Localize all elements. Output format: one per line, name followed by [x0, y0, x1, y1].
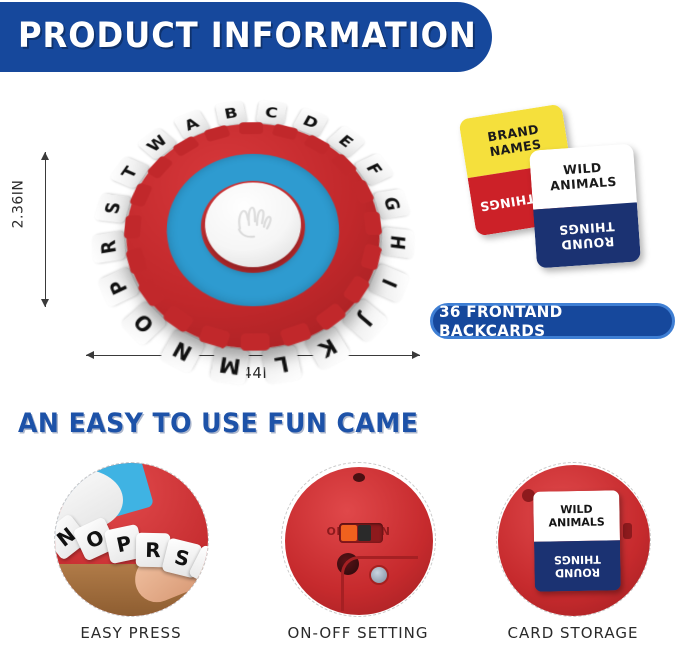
- feature-on-off-image: OFF ON: [281, 462, 436, 617]
- stored-card-bottom-label: ROUND THINGS: [534, 540, 621, 591]
- power-switch[interactable]: [339, 523, 383, 543]
- power-switch-knob[interactable]: [341, 525, 357, 541]
- height-dimension-arrow: [45, 152, 46, 307]
- height-dimension-label: 2.36IN: [10, 180, 26, 229]
- letter-wheel: BCDEFGHIJKLMNOPRSTWA: [70, 124, 436, 347]
- section-title-easy-to-use: AN EASY TO USE FUN CAME: [18, 408, 418, 439]
- battery-cover-ridge: [341, 556, 418, 611]
- holder-slot: [623, 523, 632, 539]
- letter-tile[interactable]: R: [92, 231, 126, 264]
- power-switch-track: [358, 525, 371, 541]
- card-back-top-label: WILD ANIMALS: [529, 144, 637, 210]
- feature-easy-press-caption: EASY PRESS: [18, 624, 244, 642]
- wheel-underside: OFF ON: [285, 467, 433, 615]
- width-dimension-label: 9.44IN: [86, 364, 420, 382]
- feature-card-storage: WILD ANIMALS ROUND THINGS CARD STORAGE: [460, 462, 679, 657]
- letter-tile[interactable]: I: [368, 263, 410, 303]
- feature-on-off-setting: OFF ON ON-OFF SETTING: [245, 462, 471, 657]
- stored-card-top-label: WILD ANIMALS: [533, 490, 620, 541]
- card-holder-body: WILD ANIMALS ROUND THINGS: [498, 465, 650, 617]
- feature-easy-press-image: NOPRST: [54, 462, 209, 617]
- letter-tile[interactable]: L: [261, 345, 302, 385]
- feature-card-storage-image: WILD ANIMALS ROUND THINGS: [496, 462, 651, 617]
- feature-easy-press: NOPRST EASY PRESS: [18, 462, 244, 657]
- header-banner: PRODUCT INFORMATION: [0, 2, 492, 72]
- card-back-bottom-label: ROUND THINGS: [533, 202, 641, 268]
- feature-row: NOPRST EASY PRESS OFF ON: [0, 462, 679, 657]
- feature-on-off-caption: ON-OFF SETTING: [245, 624, 471, 642]
- feature-card-storage-caption: CARD STORAGE: [460, 624, 679, 642]
- letter-wheel-photo: BCDEFGHIJKLMNOPRSTWA: [88, 100, 418, 350]
- letter-tile[interactable]: M: [210, 346, 250, 385]
- width-dimension-arrow: [86, 355, 420, 356]
- page-title: PRODUCT INFORMATION: [18, 16, 477, 56]
- letter-tile[interactable]: H: [381, 227, 414, 259]
- card-back: WILD ANIMALS ROUND THINGS: [529, 144, 641, 269]
- wheel-closeup-tiles: NOPRST: [55, 516, 208, 590]
- product-information-infographic: PRODUCT INFORMATION 2.36IN 9.44IN BCDEFG…: [0, 0, 679, 657]
- category-cards-photo: BRAND NAMES SEA THINGS WILD ANIMALS ROUN…: [455, 105, 670, 285]
- cards-count-badge-label: 36 FRONTAND BACKCARDS: [439, 302, 666, 340]
- wheel-notch: [239, 122, 263, 134]
- cards-count-badge: 36 FRONTAND BACKCARDS: [430, 303, 675, 339]
- underside-vent: [353, 473, 365, 482]
- stored-card: WILD ANIMALS ROUND THINGS: [533, 490, 621, 591]
